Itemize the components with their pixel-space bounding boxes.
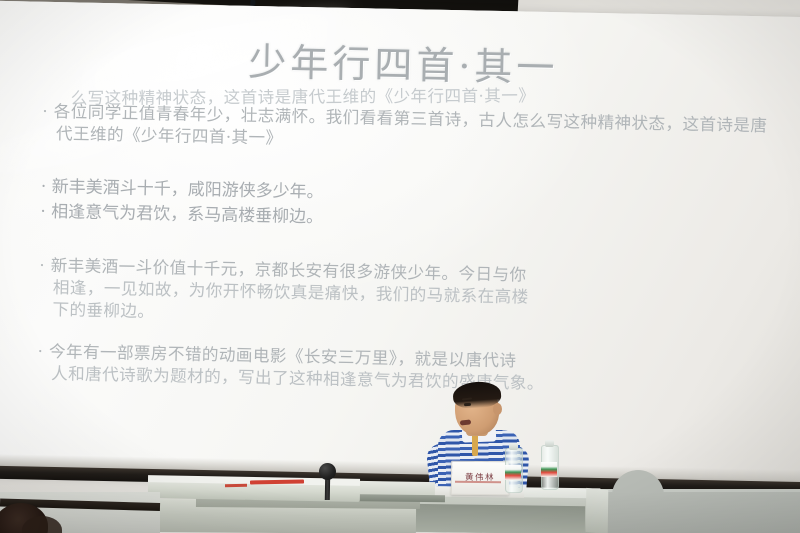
bullet-glyph: · bbox=[40, 202, 46, 222]
slide-title: 少年行四首·其一 bbox=[3, 26, 800, 97]
slide-body: · 各位同学正值青春年少，壮志满怀。我们看看第三首诗，古人怎么写这种精神状态，这… bbox=[37, 101, 773, 400]
bullet-glyph: · bbox=[42, 102, 48, 121]
presentation-slide: 少年行四首·其一 · 各位同学正值青春年少，壮志满怀。我们看看第三首诗，古人怎么… bbox=[0, 0, 800, 478]
slide-bullet-intro-text: 各位同学正值青春年少，壮志满怀。我们看看第三首诗，古人怎么写这种精神状态，这首诗… bbox=[54, 102, 768, 148]
poem-line-1-text: 新丰美酒斗十千，咸阳游侠多少年。 bbox=[52, 177, 324, 202]
poem-line-2-text: 相逢意气为君饮，系马高楼垂柳边。 bbox=[51, 202, 323, 227]
bullet-glyph: · bbox=[37, 342, 43, 361]
screenshot-root: 少年行四首·其一 · 各位同学正值青春年少，壮志满怀。我们看看第三首诗，古人怎么… bbox=[0, 0, 800, 533]
bullet-glyph: · bbox=[41, 177, 47, 197]
bullet-glyph: · bbox=[39, 256, 45, 275]
